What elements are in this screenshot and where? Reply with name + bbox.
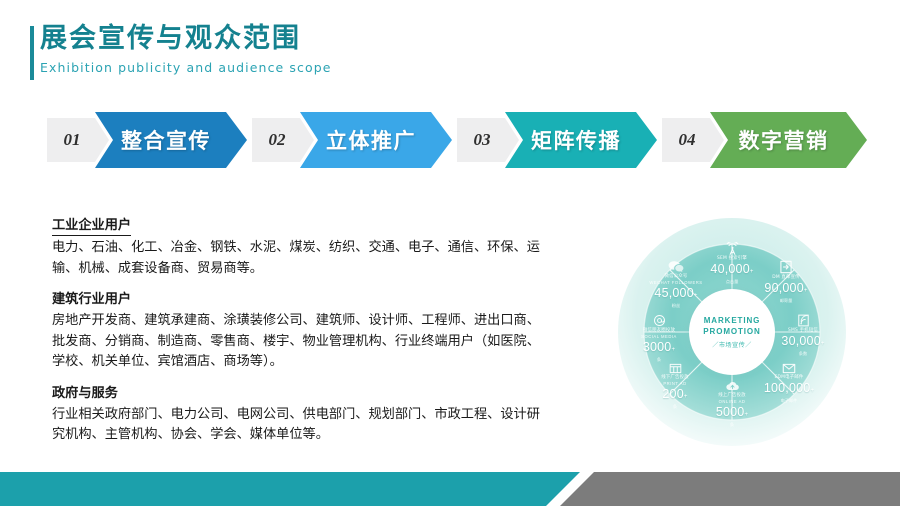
hub-line-3: ／市场宣传／ (712, 340, 752, 349)
segment-print-ad-value: 200 (662, 387, 683, 401)
wechat-icon (668, 260, 684, 273)
banner-number-2: 02 (269, 130, 298, 150)
segment-dm-sub: 邮寄量 (751, 298, 821, 304)
rss-sms-icon (797, 314, 810, 327)
section-title-industrial: 工业企业用户 (52, 216, 131, 236)
segment-online-ad-value: 5000 (716, 405, 745, 419)
segment-wechat: 微信公众号 WECHAT FOLLOWERS 45,000+ 粉丝 (641, 260, 711, 309)
section-government: 政府与服务 行业相关政府部门、电力公司、电网公司、供电部门、规划部门、市政工程、… (52, 384, 544, 446)
cloud-online-icon (725, 381, 740, 392)
banner-item-4[interactable]: 04 数字营销 (662, 112, 867, 168)
banner-number-chevron-4: 04 (662, 118, 724, 162)
document-dm-icon (779, 260, 793, 274)
banner-number-4: 04 (679, 130, 708, 150)
antenna-icon (725, 242, 740, 255)
section-title-construction: 建筑行业用户 (52, 290, 131, 309)
section-title-government: 政府与服务 (52, 384, 118, 403)
banner-item-3[interactable]: 03 矩阵传播 (457, 112, 657, 168)
segment-sem-value: 40,000 (710, 262, 749, 276)
segment-social-media-plus: + (671, 347, 675, 353)
banner-label-chevron-2[interactable]: 立体推广 (300, 112, 452, 168)
banner-item-1[interactable]: 01 整合宣传 (47, 112, 247, 168)
banner-label-chevron-4[interactable]: 数字营销 (710, 112, 867, 168)
segment-dm-plus: + (804, 288, 808, 294)
page-header: 展会宣传与观众范围 Exhibition publicity and audie… (0, 22, 900, 86)
section-body-construction: 房地产开发商、建筑承建商、涂璜装修公司、建筑师、设计师、工程师、进出口商、批发商… (52, 311, 544, 373)
segment-social-media-label-en: SOCIAL MEDIA (624, 334, 694, 340)
segment-edm-plus: + (810, 388, 814, 394)
footer-teal-band (0, 472, 580, 506)
marketing-promotion-infographic: MARKETING PROMOTION ／市场宣传／ SEM 搜索引擎 40,0… (618, 218, 846, 446)
segment-print-ad-sub: 条 (640, 404, 710, 410)
slide-root: 展会宣传与观众范围 Exhibition publicity and audie… (0, 0, 900, 506)
banner-number-chevron-1: 01 (47, 118, 109, 162)
page-title: 展会宣传与观众范围 (40, 22, 332, 56)
segment-dm: DM 直邮宣传 90,000+ 邮寄量 (751, 260, 821, 304)
banner-number-chevron-2: 02 (252, 118, 314, 162)
segment-social-media-value: 3000 (643, 340, 672, 354)
segment-wechat-label-en: WECHAT FOLLOWERS (641, 280, 711, 286)
audience-scope-content: 工业企业用户 电力、石油、化工、冶金、钢铁、水泥、煤炭、纺织、交通、电子、通信、… (52, 216, 544, 457)
section-body-industrial: 电力、石油、化工、冶金、钢铁、水泥、煤炭、纺织、交通、电子、通信、环保、运输、机… (52, 238, 544, 279)
banner-number-chevron-3: 03 (457, 118, 519, 162)
header-text-block: 展会宣传与观众范围 Exhibition publicity and audie… (40, 22, 332, 77)
banner-label-1: 整合宣传 (115, 125, 227, 155)
segment-sms: SMS 手机短信 30,000+ 条数 (768, 314, 838, 357)
section-body-government: 行业相关政府部门、电力公司、电网公司、供电部门、规划部门、市政工程、设计研究机构… (52, 405, 544, 446)
banner-item-2[interactable]: 02 立体推广 (252, 112, 452, 168)
banner-label-2: 立体推广 (320, 125, 432, 155)
chevron-banner-row: 01 整合宣传 02 立体推广 03 矩阵传播 04 (47, 112, 867, 168)
page-subtitle: Exhibition publicity and audience scope (40, 59, 332, 77)
newspaper-icon (669, 363, 682, 374)
segment-sms-value: 30,000 (781, 334, 820, 348)
header-accent-bar (30, 26, 34, 80)
segment-sms-sub: 条数 (768, 351, 838, 357)
footer-gray-band (560, 472, 900, 506)
segment-print-ad-plus: + (684, 394, 688, 400)
segment-social-media: 微信朋友圈投放 SOCIAL MEDIA 3000+ 条 (624, 314, 694, 363)
page-footer (0, 472, 900, 506)
segment-print-ad: 线下广告投放 PRINT AD 200+ 条 (640, 363, 710, 410)
banner-number-1: 01 (64, 130, 93, 150)
segment-dm-value: 90,000 (764, 281, 803, 295)
segment-print-ad-label-en: PRINT AD (640, 381, 710, 387)
banner-label-chevron-1[interactable]: 整合宣传 (95, 112, 247, 168)
segment-wechat-plus: + (694, 293, 698, 299)
segment-dm-label: DM 直邮宣传 (751, 275, 821, 281)
at-social-icon (653, 314, 666, 327)
banner-number-3: 03 (474, 130, 503, 150)
segment-online-ad-plus: + (744, 412, 748, 418)
banner-label-4: 数字营销 (733, 125, 845, 155)
envelope-edm-icon (782, 363, 796, 374)
segment-online-ad-sub: 条 (697, 422, 767, 428)
segment-wechat-value: 45,000 (654, 286, 693, 300)
section-industrial: 工业企业用户 电力、石油、化工、冶金、钢铁、水泥、煤炭、纺织、交通、电子、通信、… (52, 216, 544, 279)
segment-wechat-sub: 粉丝 (641, 303, 711, 309)
banner-label-chevron-3[interactable]: 矩阵传播 (505, 112, 657, 168)
segment-edm-value: 100,000 (764, 381, 811, 395)
segment-sms-plus: + (821, 341, 825, 347)
hub-line-2: PROMOTION (703, 326, 760, 337)
section-construction: 建筑行业用户 房地产开发商、建筑承建商、涂璜装修公司、建筑师、设计师、工程师、进… (52, 290, 544, 373)
segment-social-media-sub: 条 (624, 357, 694, 363)
segment-sms-label: SMS 手机短信 (768, 328, 838, 334)
banner-label-3: 矩阵传播 (525, 125, 637, 155)
hub-line-1: MARKETING (704, 315, 761, 326)
